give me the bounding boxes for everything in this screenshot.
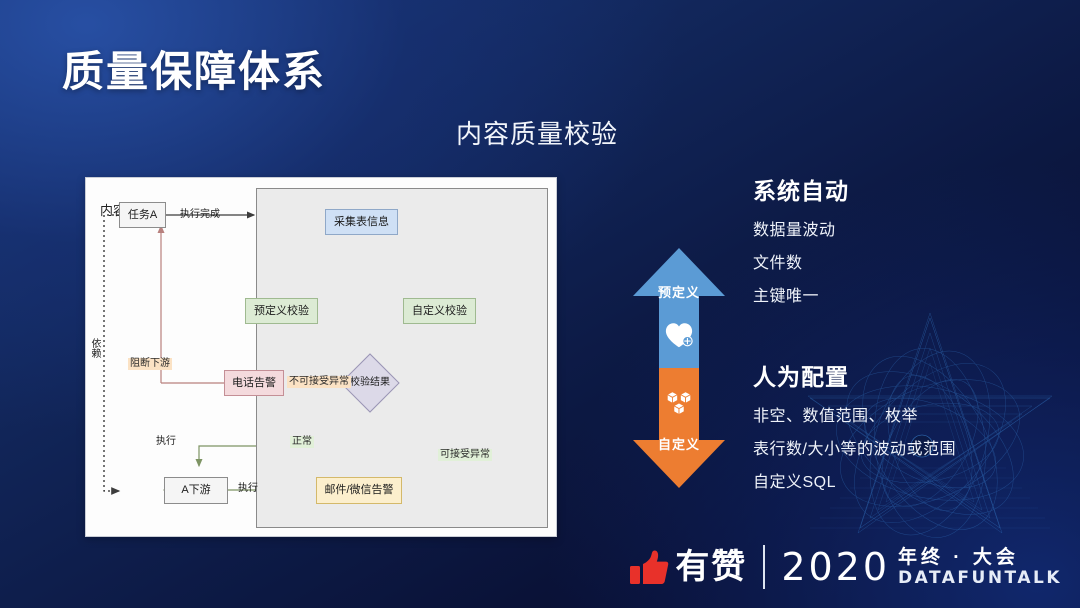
edge-label-normal: 正常 (290, 436, 314, 448)
edge-label-unacceptable-exception: 不可接受异常 (287, 376, 351, 388)
edge-label-exec-done: 执行完成 (178, 209, 222, 221)
conference-year: 2020 (781, 548, 890, 586)
edge-label-block-downstream: 阻断下游 (128, 358, 172, 370)
arrow-bottom-label: 自定义 (633, 434, 725, 453)
node-collect-table-info-label: 采集表信息 (334, 217, 389, 228)
page-title: 质量保障体系 (62, 38, 326, 99)
node-mail-wechat-alert-label: 邮件/微信告警 (324, 485, 393, 496)
node-mail-wechat-alert[interactable]: 邮件/微信告警 (316, 477, 402, 504)
node-collect-table-info[interactable]: 采集表信息 (325, 209, 398, 235)
right-block-system-auto: 系统自动 数据量波动 文件数 主键唯一 (753, 172, 849, 315)
heart-plus-icon (664, 320, 694, 350)
footer-divider (763, 545, 765, 589)
conference-name-en: DATAFUNTALK (898, 570, 1062, 587)
right-block-system-auto-line-2: 文件数 (753, 249, 849, 273)
brand-name: 有赞 (675, 550, 747, 584)
edge-label-execute-top: 执行 (154, 436, 178, 448)
node-task-a[interactable]: 任务A (119, 202, 166, 228)
node-task-a-label: 任务A (128, 210, 157, 221)
right-block-system-auto-line-3: 主键唯一 (753, 282, 849, 306)
node-phone-alert[interactable]: 电话告警 (224, 370, 284, 396)
node-predefined-check[interactable]: 预定义校验 (245, 298, 318, 324)
node-downstream-a-label: A下游 (181, 485, 210, 496)
right-block-system-auto-line-1: 数据量波动 (753, 216, 849, 240)
node-phone-alert-label: 电话告警 (232, 378, 276, 389)
content-quality-group (256, 188, 548, 528)
cubes-icon (664, 388, 694, 418)
edge-label-dependency: 依赖 (89, 338, 99, 358)
right-block-manual-config-heading: 人为配置 (753, 358, 956, 392)
right-block-manual-config-line-1: 非空、数值范围、枚举 (753, 402, 956, 426)
right-block-manual-config-line-2: 表行数/大小等的波动或范围 (753, 435, 956, 459)
conference-name-stack: 年终 · 大会 DATAFUNTALK (898, 548, 1062, 587)
right-block-manual-config: 人为配置 非空、数值范围、枚举 表行数/大小等的波动或范围 自定义SQL (753, 358, 956, 501)
node-custom-check[interactable]: 自定义校验 (403, 298, 476, 324)
predefined-custom-arrow: 预定义 自定义 (633, 248, 725, 488)
footer-logo-bar: 有赞 2020 年终 · 大会 DATAFUNTALK (629, 540, 1062, 594)
node-downstream-a[interactable]: A下游 (164, 477, 228, 504)
right-block-manual-config-line-3: 自定义SQL (753, 468, 956, 492)
flowchart-panel: 内容质量 任务A A下游 采集表信息 预定义校验 自定义校验 电话告警 校验结果… (85, 177, 557, 537)
conference-name-cn: 年终 · 大会 (898, 548, 1062, 567)
arrow-top-label: 预定义 (633, 282, 725, 301)
thumbs-up-icon (629, 547, 669, 587)
page-subtitle: 内容质量校验 (456, 114, 618, 151)
edge-label-acceptable-exception: 可接受异常 (438, 449, 492, 461)
right-block-system-auto-heading: 系统自动 (753, 172, 849, 206)
node-custom-check-label: 自定义校验 (412, 306, 467, 317)
node-predefined-check-label: 预定义校验 (254, 306, 309, 317)
node-check-result-label: 校验结果 (350, 378, 390, 388)
edge-label-execute-bottom: 执行 (236, 483, 260, 495)
slide-root: 质量保障体系 内容质量校验 (0, 0, 1080, 608)
